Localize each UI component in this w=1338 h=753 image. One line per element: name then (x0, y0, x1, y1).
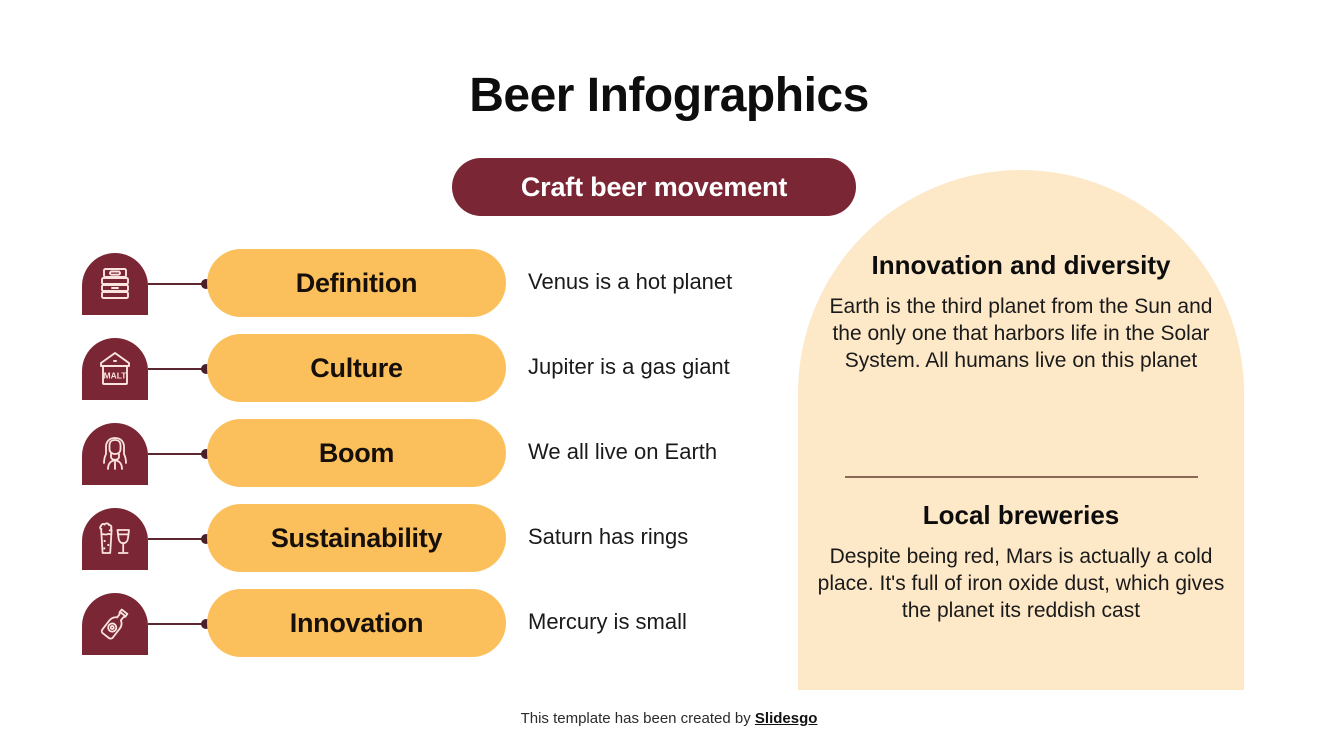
arch-body-breweries: Despite being red, Mars is actually a co… (814, 543, 1228, 625)
arch-heading-breweries: Local breweries (814, 500, 1228, 531)
list-item[interactable]: MALT Culture Jupiter is a gas giant (0, 338, 800, 404)
pill-culture[interactable]: Culture (207, 334, 506, 402)
pill-label: Definition (296, 268, 417, 299)
pill-label: Innovation (290, 608, 424, 639)
subtitle-badge-label: Craft beer movement (521, 172, 787, 203)
pill-label: Culture (310, 353, 402, 384)
beer-keg-icon (82, 253, 148, 315)
pill-label: Boom (319, 438, 394, 469)
pill-innovation[interactable]: Innovation (207, 589, 506, 657)
arch-heading-innovation: Innovation and diversity (818, 250, 1224, 281)
subtitle-badge: Craft beer movement (452, 158, 856, 216)
list-item[interactable]: Definition Venus is a hot planet (0, 253, 800, 319)
pill-sustainability[interactable]: Sustainability (207, 504, 506, 572)
arch-panel: Innovation and diversity Earth is the th… (798, 170, 1244, 690)
row-description: Venus is a hot planet (528, 269, 732, 295)
arch-block-breweries: Local breweries Despite being red, Mars … (814, 500, 1228, 625)
arch-block-innovation: Innovation and diversity Earth is the th… (818, 250, 1224, 375)
svg-text:MALT: MALT (104, 371, 128, 381)
list-item[interactable]: Innovation Mercury is small (0, 593, 800, 659)
list-item[interactable]: Sustainability Saturn has rings (0, 508, 800, 574)
beer-bottle-icon (82, 593, 148, 655)
row-description: We all live on Earth (528, 439, 717, 465)
footer-attribution: This template has been created by Slides… (0, 710, 1338, 727)
arch-body-innovation: Earth is the third planet from the Sun a… (818, 293, 1224, 375)
row-description: Jupiter is a gas giant (528, 354, 730, 380)
pill-label: Sustainability (271, 523, 442, 554)
pill-boom[interactable]: Boom (207, 419, 506, 487)
slidesgo-link[interactable]: Slidesgo (755, 710, 818, 727)
row-description: Saturn has rings (528, 524, 688, 550)
malt-sack-icon: MALT (82, 338, 148, 400)
barmaid-icon (82, 423, 148, 485)
pill-definition[interactable]: Definition (207, 249, 506, 317)
beer-and-wine-glass-icon (82, 508, 148, 570)
slide-canvas: Beer Infographics Craft beer movement In… (0, 0, 1338, 753)
row-description: Mercury is small (528, 609, 687, 635)
list-item[interactable]: Boom We all live on Earth (0, 423, 800, 489)
footer-text: This template has been created by (521, 710, 755, 727)
arch-divider (845, 476, 1198, 478)
page-title: Beer Infographics (0, 68, 1338, 123)
